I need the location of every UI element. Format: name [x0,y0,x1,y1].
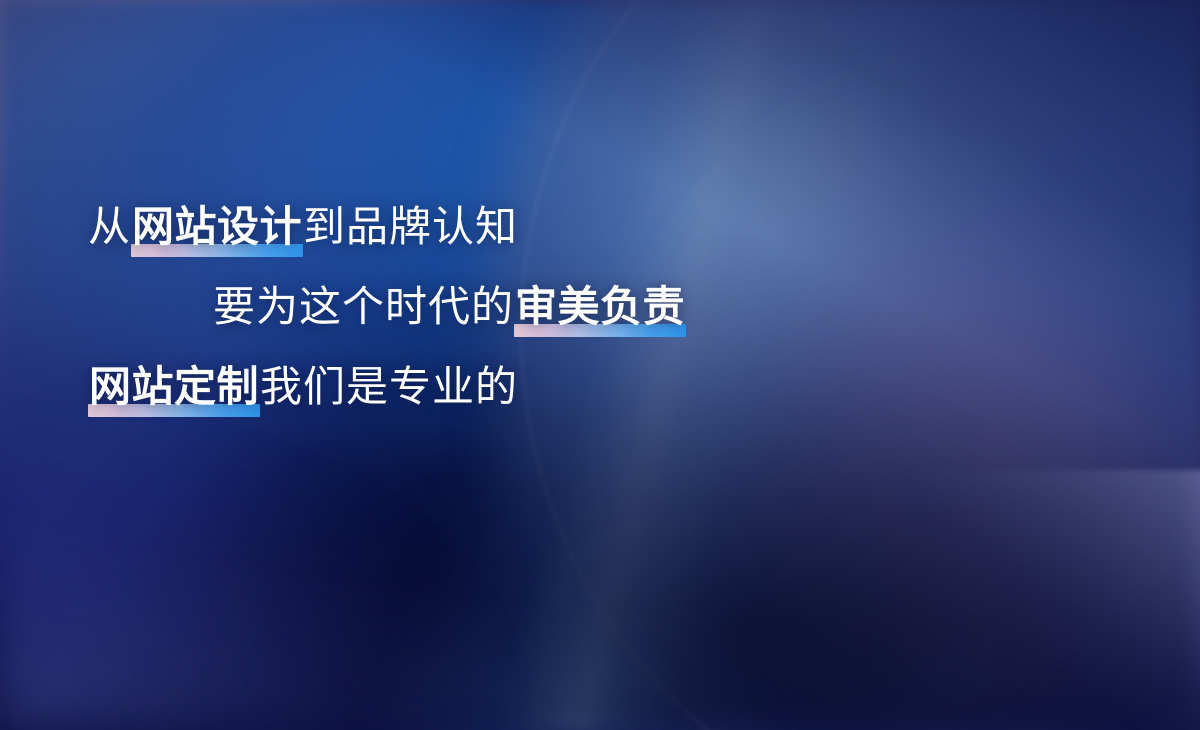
background-corner-bottom-right [900,470,1200,730]
headline-line-1-emphasis: 网站设计 [131,206,303,248]
headline-line-1: 从网站设计到品牌认知 [0,206,1200,248]
headline-line-3-emphasis: 网站定制 [88,366,260,408]
headline-line-3-suffix: 我们是专业的 [260,363,518,410]
hero-banner: 从网站设计到品牌认知 要为这个时代的审美负责 网站定制我们是专业的 [0,0,1200,730]
headline-block: 从网站设计到品牌认知 要为这个时代的审美负责 网站定制我们是专业的 [0,206,1200,408]
headline-line-3: 网站定制我们是专业的 [0,366,1200,408]
headline-line-2-prefix: 要为这个时代的 [213,283,514,330]
headline-line-1-prefix: 从 [88,203,131,250]
headline-line-2-emphasis: 审美负责 [514,286,686,328]
headline-line-2: 要为这个时代的审美负责 [0,286,1200,328]
headline-line-1-suffix: 到品牌认知 [303,203,518,250]
